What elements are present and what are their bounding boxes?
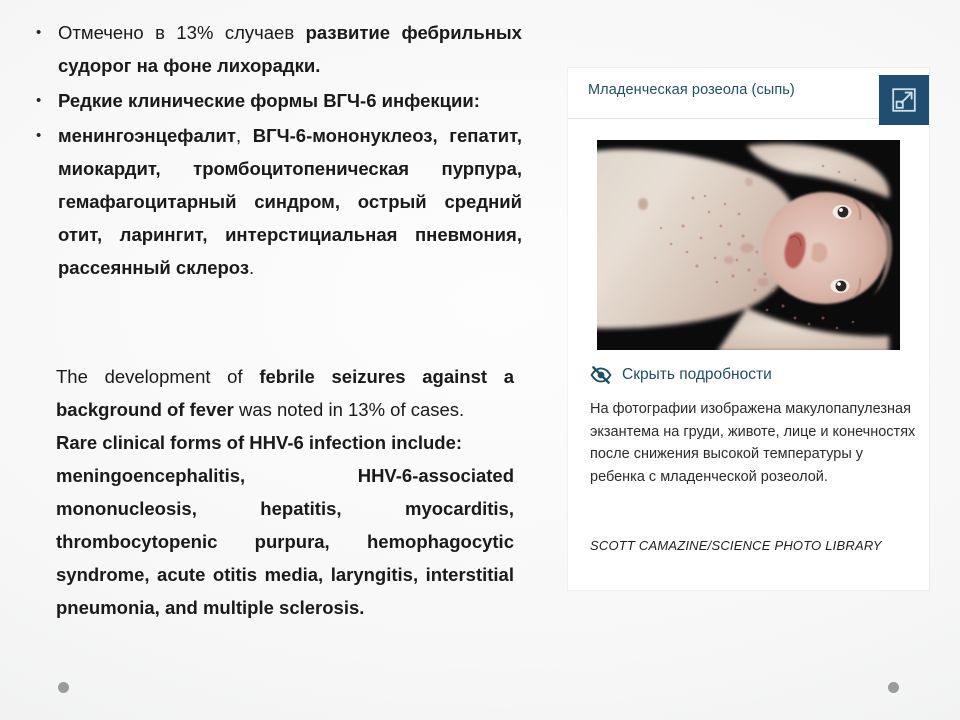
list-item: • Редкие клинические формы ВГЧ-6 инфекци… — [30, 84, 522, 117]
bullet-marker: • — [30, 119, 58, 152]
translation-paragraph-1: The development of febrile seizures agai… — [56, 360, 514, 426]
bullet-item-2-text: Редкие клинические формы ВГЧ-6 инфекции: — [58, 84, 522, 117]
eye-slash-icon — [590, 364, 612, 386]
clinical-photo[interactable] — [597, 140, 900, 350]
expand-button[interactable] — [879, 75, 929, 125]
photo-description: На фотографии изображена макулопапулезна… — [590, 398, 920, 488]
card-title: Младенческая розеола (сыпь) — [588, 82, 795, 98]
hide-details-toggle[interactable]: Скрыть подробности — [590, 364, 772, 386]
translation-paragraph-2: Rare clinical forms of HHV-6 infection i… — [56, 426, 514, 459]
list-item: • Отмечено в 13% случаев развитие фебрил… — [30, 16, 522, 82]
decoration-dot-right — [888, 682, 899, 693]
hide-details-label: Скрыть подробности — [622, 366, 772, 384]
translation-paragraph-3-text: meningoencephalitis, HHV-6-associated mo… — [56, 465, 514, 618]
translation-paragraph-3: meningoencephalitis, HHV-6-associated mo… — [56, 459, 514, 624]
decoration-dot-left — [58, 682, 69, 693]
bullet-item-3-text: менингоэнцефалит, ВГЧ-6-мононуклеоз, геп… — [58, 119, 522, 284]
photo-credit: SCOTT CAMAZINE/SCIENCE PHOTO LIBRARY — [590, 538, 882, 553]
translation-paragraph-2-text: Rare clinical forms of HHV-6 infection i… — [56, 432, 462, 453]
translation-block: The development of febrile seizures agai… — [56, 360, 514, 624]
bullet-marker: • — [30, 84, 58, 117]
card-header: Младенческая розеола (сыпь) — [568, 68, 929, 118]
image-info-card: Младенческая розеола (сыпь) — [568, 68, 929, 590]
header-divider — [568, 118, 879, 119]
bullet-item-1-text: Отмечено в 13% случаев развитие фебрильн… — [58, 16, 522, 82]
content-text-column: • Отмечено в 13% случаев развитие фебрил… — [0, 0, 540, 720]
list-item: • менингоэнцефалит, ВГЧ-6-мононуклеоз, г… — [30, 119, 522, 284]
expand-arrow-icon — [891, 87, 917, 113]
bullet-marker: • — [30, 16, 58, 49]
bullet-list: • Отмечено в 13% случаев развитие фебрил… — [30, 16, 522, 286]
slide-canvas: • Отмечено в 13% случаев развитие фебрил… — [0, 0, 960, 720]
